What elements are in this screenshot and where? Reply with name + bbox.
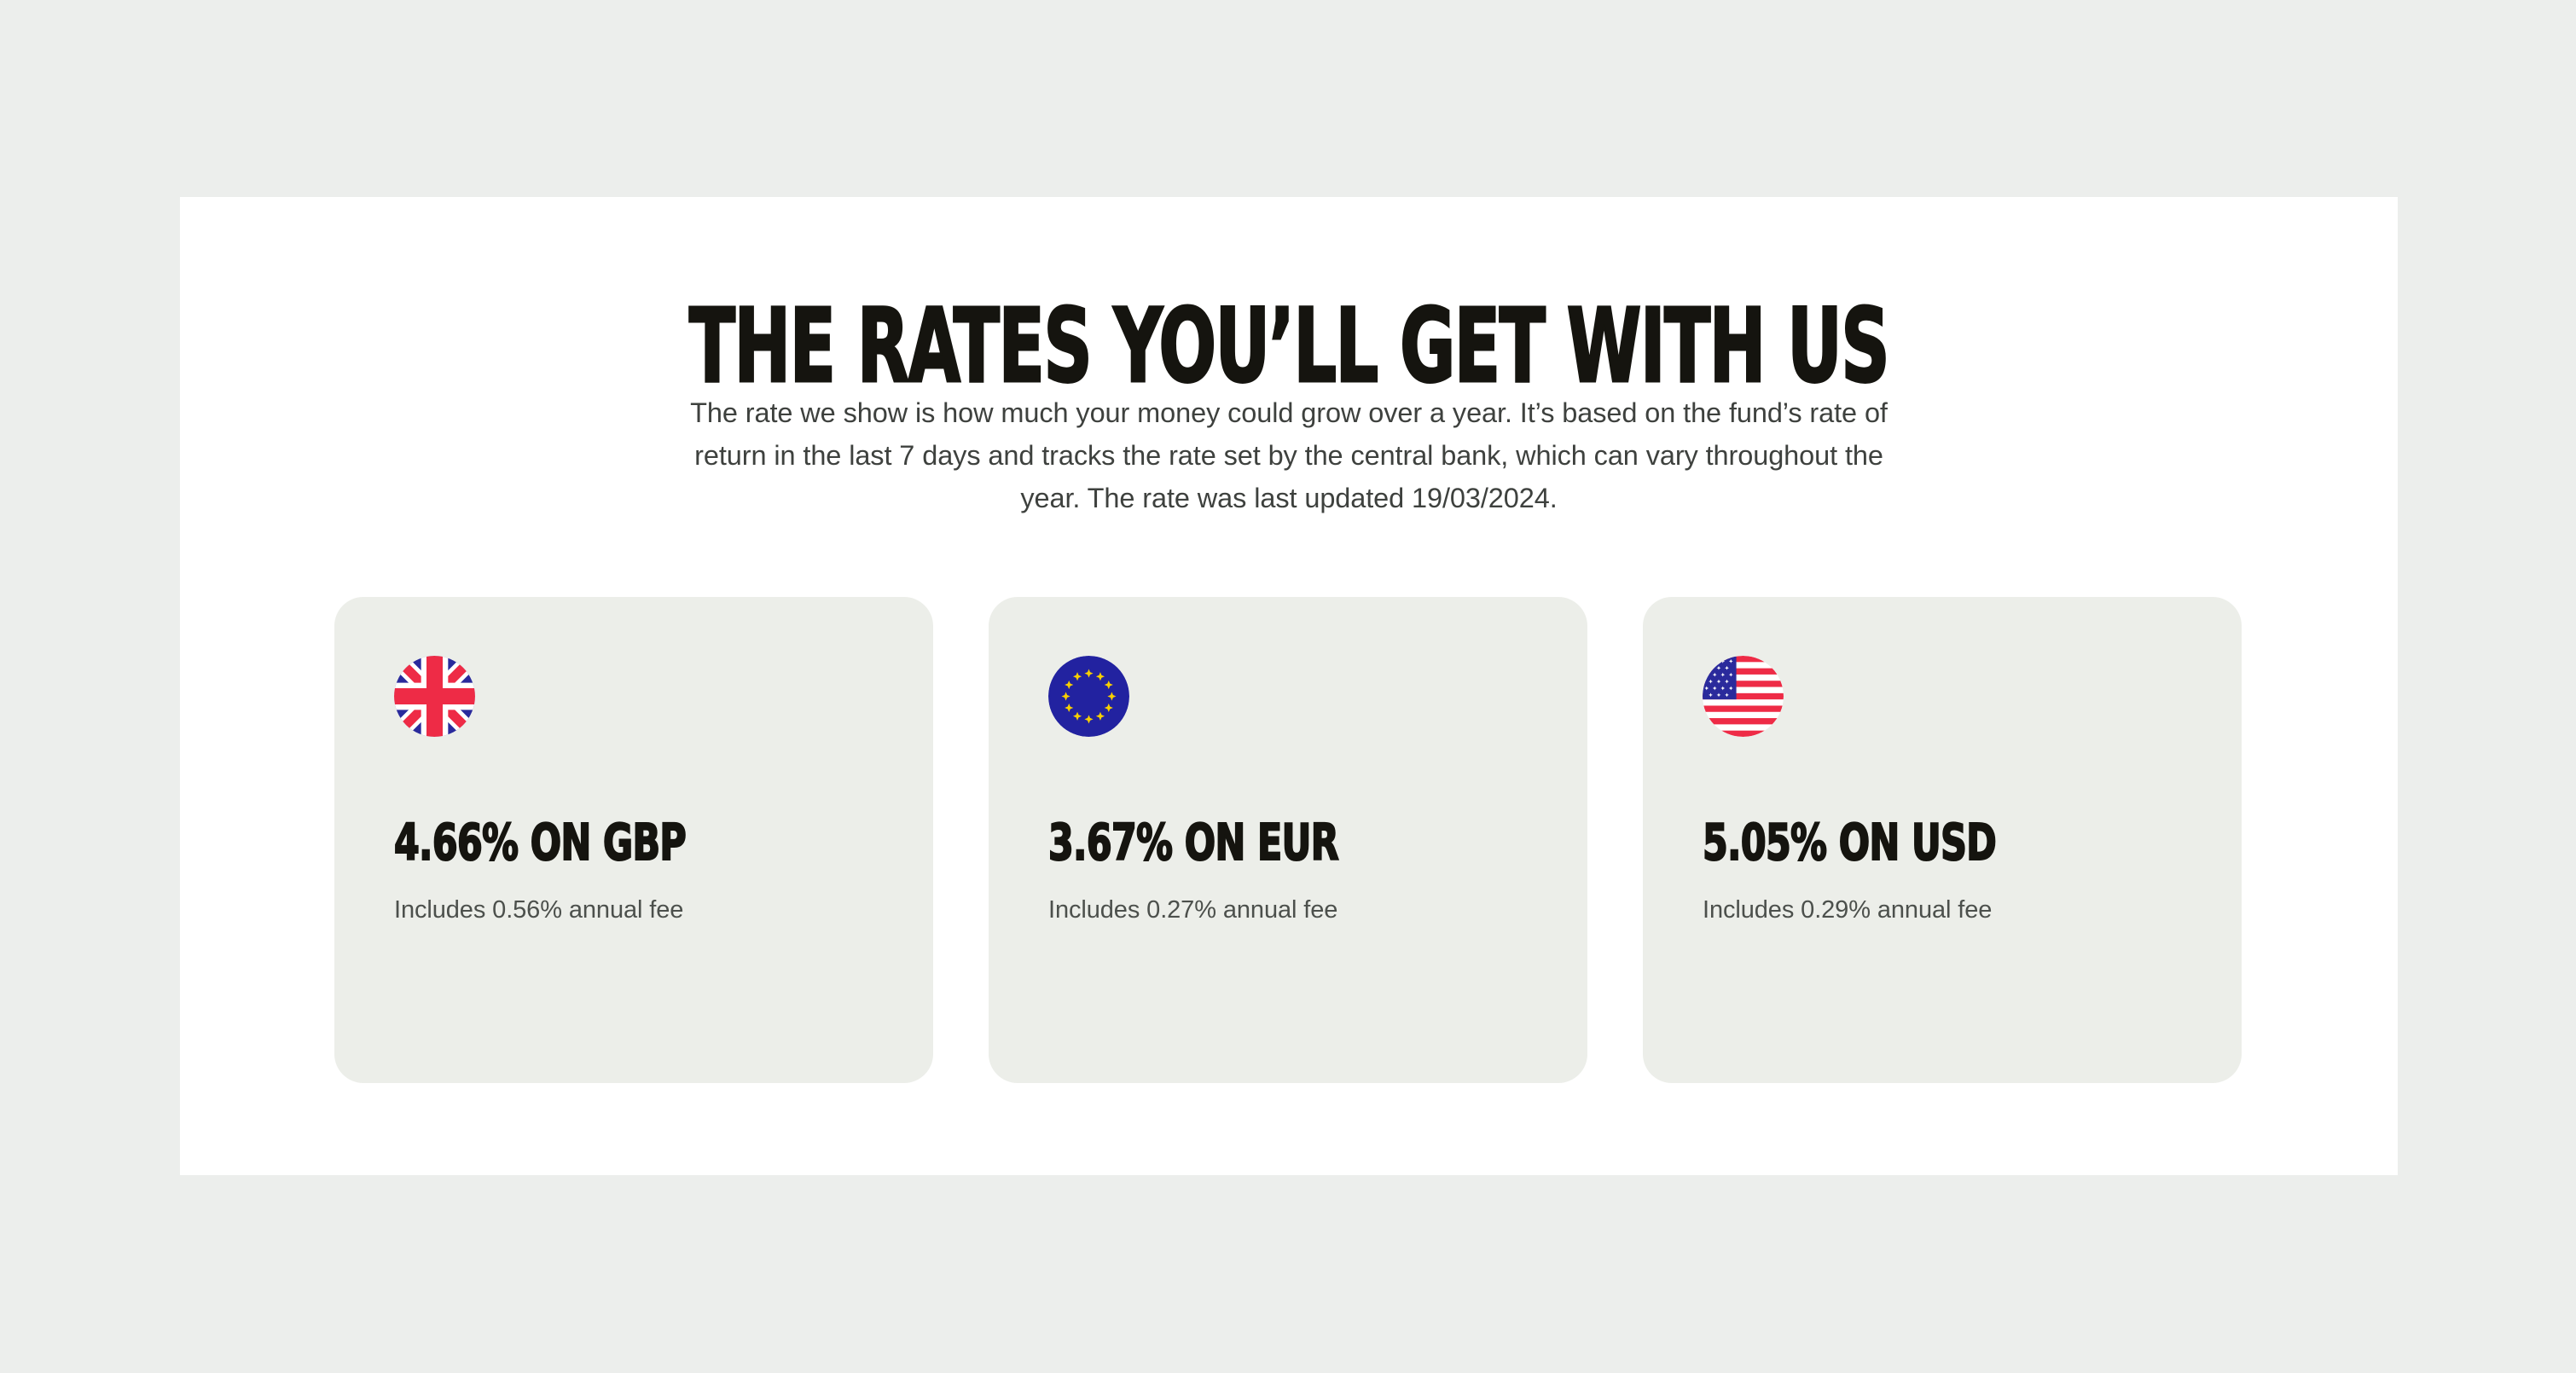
- heading-block: THE RATES YOU’LL GET WITH US The rate we…: [180, 197, 2398, 519]
- page-title: THE RATES YOU’LL GET WITH US: [291, 197, 2287, 397]
- uk-flag-icon: [394, 656, 475, 737]
- eu-flag-icon: [1048, 656, 1129, 737]
- page-root: THE RATES YOU’LL GET WITH US The rate we…: [0, 0, 2576, 1373]
- rate-value-eur: 3.67% ON EUR: [1048, 737, 1504, 867]
- rate-card-eur[interactable]: 3.67% ON EUR Includes 0.27% annual fee: [989, 597, 1587, 1083]
- rate-card-gbp[interactable]: 4.66% ON GBP Includes 0.56% annual fee: [334, 597, 933, 1083]
- rate-value-gbp: 4.66% ON GBP: [394, 737, 850, 867]
- rates-panel: THE RATES YOU’LL GET WITH US The rate we…: [180, 197, 2398, 1175]
- rate-card-usd[interactable]: 5.05% ON USD Includes 0.29% annual fee: [1643, 597, 2242, 1083]
- us-flag-icon: [1703, 656, 1784, 737]
- rate-cards-row: 4.66% ON GBP Includes 0.56% annual fee: [334, 597, 2242, 1083]
- rate-value-usd: 5.05% ON USD: [1703, 737, 2158, 867]
